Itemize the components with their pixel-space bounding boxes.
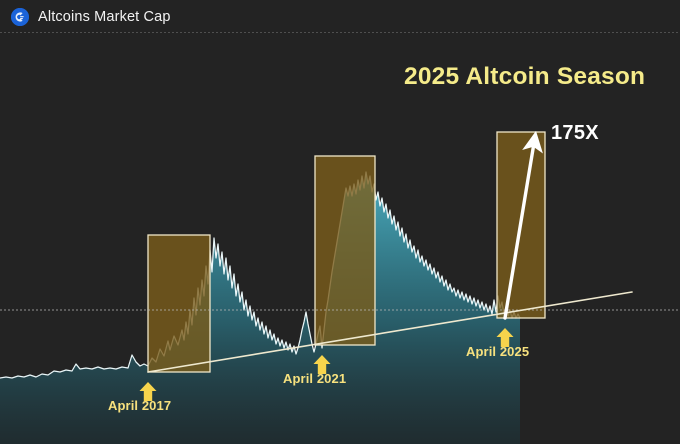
date-label-april-2017: April 2017 bbox=[108, 398, 171, 413]
price-area-fill bbox=[0, 172, 520, 444]
altcoin-circle-logo-icon bbox=[11, 8, 29, 26]
header-bar: Altcoins Market Cap bbox=[0, 0, 680, 33]
altcoin-market-cap-chart-screenshot: Altcoins Market Cap bbox=[0, 0, 680, 444]
header-divider bbox=[0, 32, 680, 33]
highlight-box-altcoin-season-2017 bbox=[148, 235, 210, 372]
price-series bbox=[0, 172, 520, 444]
highlight-box-altcoin-season-2021 bbox=[315, 156, 375, 345]
season-title: 2025 Altcoin Season bbox=[404, 63, 645, 91]
date-label-april-2025: April 2025 bbox=[466, 344, 529, 359]
header-title: Altcoins Market Cap bbox=[38, 9, 171, 25]
multiplier-label: 175X bbox=[551, 122, 599, 145]
date-label-april-2021: April 2021 bbox=[283, 371, 346, 386]
